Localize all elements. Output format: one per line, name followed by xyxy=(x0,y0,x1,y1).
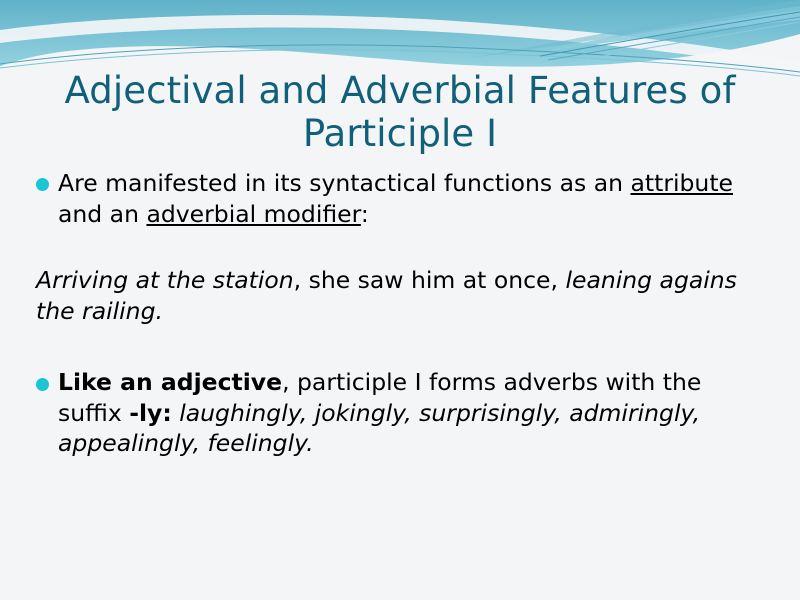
header-decoration xyxy=(0,0,800,80)
example-sentence: Arriving at the station, she saw him at … xyxy=(36,265,772,327)
bullet-item-2: Like an adjective, participle I forms ad… xyxy=(36,367,772,459)
presentation-slide: Adjectival and Adverbial Features of Par… xyxy=(0,0,800,600)
bullet-item-1-text: Are manifested in its syntactical functi… xyxy=(58,168,772,229)
bullet-dot-icon xyxy=(36,178,49,191)
bullet-2-segment-lead-bold: Like an adjective xyxy=(58,368,282,396)
bullet-item-1: Are manifested in its syntactical functi… xyxy=(36,168,772,229)
bullet-item-2-text: Like an adjective, participle I forms ad… xyxy=(58,367,772,459)
slide-body: Are manifested in its syntactical functi… xyxy=(36,168,772,459)
bullet-dot-icon xyxy=(36,378,49,391)
slide-title: Adjectival and Adverbial Features of Par… xyxy=(34,70,766,156)
header-wave-graphic xyxy=(0,0,800,80)
example-segment-main-clause: , she saw him at once, xyxy=(294,266,566,294)
bullet-2-segment-suffix-bold: -ly: xyxy=(129,399,172,427)
bullet-1-segment-adverbial-modifier: adverbial modifier xyxy=(146,200,360,228)
bullet-1-segment-attribute: attribute xyxy=(630,169,733,197)
bullet-1-segment-plain-a: Are manifested in its syntactical functi… xyxy=(58,169,630,197)
bullet-1-segment-plain-b: and an xyxy=(58,200,146,228)
bullet-1-segment-colon: : xyxy=(361,200,369,228)
example-segment-participle-phrase: Arriving at the station xyxy=(36,266,294,294)
